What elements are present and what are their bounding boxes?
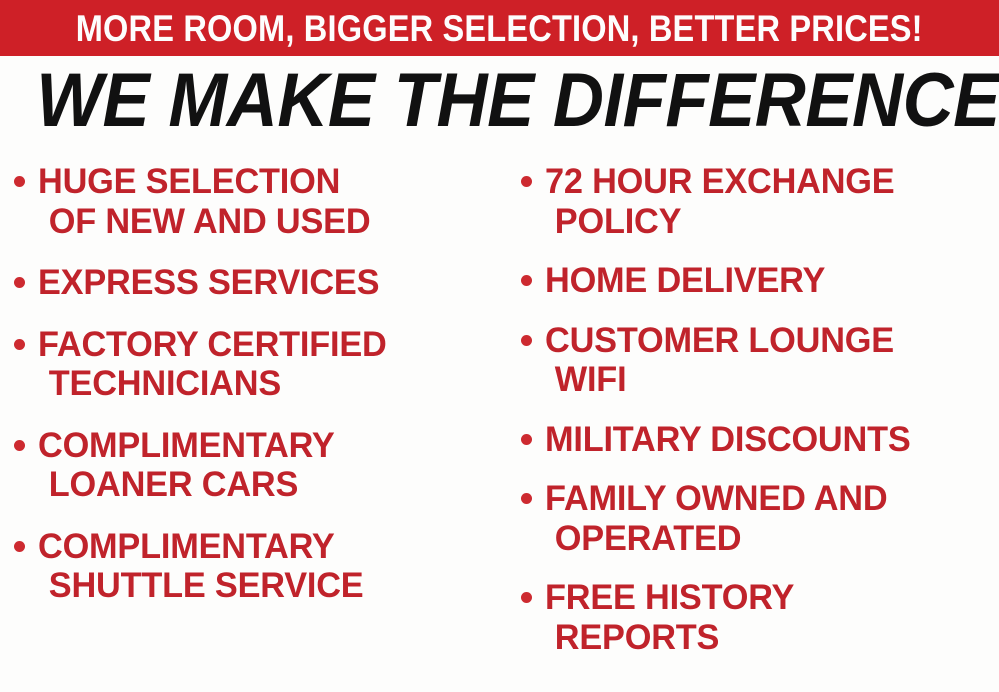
- list-item: EXPRESS SERVICES: [14, 263, 505, 303]
- list-item: COMPLIMENTARY LOANER CARS: [14, 426, 505, 505]
- feature-label: FACTORY CERTIFIED TECHNICIANS: [38, 325, 387, 404]
- bullet-dot-icon: [14, 176, 25, 187]
- list-item: MILITARY DISCOUNTS: [521, 420, 999, 460]
- feature-label-line1: FAMILY OWNED AND: [545, 479, 887, 518]
- list-item: FREE HISTORY REPORTS: [521, 578, 999, 657]
- list-item: COMPLIMENTARY SHUTTLE SERVICE: [14, 527, 505, 606]
- feature-label: 72 HOUR EXCHANGE POLICY: [545, 162, 894, 241]
- promo-banner-text: MORE ROOM, BIGGER SELECTION, BETTER PRIC…: [76, 10, 923, 47]
- feature-label-line2: POLICY: [555, 202, 895, 242]
- feature-label-line2: OPERATED: [555, 519, 888, 559]
- feature-label-line2: SHUTTLE SERVICE: [49, 566, 364, 606]
- feature-label-line2: TECHNICIANS: [49, 364, 387, 404]
- feature-label: FAMILY OWNED AND OPERATED: [545, 479, 887, 558]
- list-item: FAMILY OWNED AND OPERATED: [521, 479, 999, 558]
- feature-columns: HUGE SELECTION OF NEW AND USED EXPRESS S…: [0, 162, 999, 692]
- list-item: FACTORY CERTIFIED TECHNICIANS: [14, 325, 505, 404]
- top-promo-banner: MORE ROOM, BIGGER SELECTION, BETTER PRIC…: [0, 0, 999, 56]
- feature-label-line1: COMPLIMENTARY: [38, 527, 335, 566]
- feature-label-line1: CUSTOMER LOUNGE: [545, 321, 894, 360]
- bullet-dot-icon: [521, 275, 532, 286]
- list-item: CUSTOMER LOUNGE WIFI: [521, 321, 999, 400]
- list-item: HOME DELIVERY: [521, 261, 999, 301]
- feature-label-line1: COMPLIMENTARY: [38, 426, 335, 465]
- feature-label: COMPLIMENTARY SHUTTLE SERVICE: [38, 527, 363, 606]
- feature-label-line2: OF NEW AND USED: [49, 202, 371, 242]
- feature-column-left: HUGE SELECTION OF NEW AND USED EXPRESS S…: [0, 162, 505, 628]
- bullet-dot-icon: [14, 440, 25, 451]
- feature-label: HOME DELIVERY: [545, 261, 825, 301]
- feature-label-line1: FREE HISTORY: [545, 578, 794, 617]
- list-item: 72 HOUR EXCHANGE POLICY: [521, 162, 999, 241]
- list-item: HUGE SELECTION OF NEW AND USED: [14, 162, 505, 241]
- bullet-dot-icon: [14, 277, 25, 288]
- feature-column-right: 72 HOUR EXCHANGE POLICY HOME DELIVERY CU…: [505, 162, 999, 677]
- headline: WE MAKE THE DIFFERENCE: [0, 63, 999, 139]
- feature-label: EXPRESS SERVICES: [38, 263, 379, 303]
- feature-label-line1: EXPRESS SERVICES: [38, 263, 379, 302]
- advertisement-banner: MORE ROOM, BIGGER SELECTION, BETTER PRIC…: [0, 0, 999, 692]
- bullet-dot-icon: [521, 592, 532, 603]
- feature-label-line2: LOANER CARS: [49, 465, 335, 505]
- bullet-dot-icon: [521, 493, 532, 504]
- feature-label-line1: HUGE SELECTION: [38, 162, 340, 201]
- feature-label-line2: WIFI: [555, 360, 894, 400]
- feature-label: HUGE SELECTION OF NEW AND USED: [38, 162, 370, 241]
- bullet-dot-icon: [14, 541, 25, 552]
- feature-label: COMPLIMENTARY LOANER CARS: [38, 426, 335, 505]
- feature-label-line1: MILITARY DISCOUNTS: [545, 420, 911, 459]
- feature-label: MILITARY DISCOUNTS: [545, 420, 911, 460]
- bullet-dot-icon: [521, 176, 532, 187]
- feature-label-line1: 72 HOUR EXCHANGE: [545, 162, 894, 201]
- feature-label: FREE HISTORY REPORTS: [545, 578, 794, 657]
- feature-label: CUSTOMER LOUNGE WIFI: [545, 321, 894, 400]
- bullet-dot-icon: [521, 335, 532, 346]
- feature-label-line1: FACTORY CERTIFIED: [38, 325, 387, 364]
- feature-label-line2: REPORTS: [555, 618, 794, 658]
- feature-label-line1: HOME DELIVERY: [545, 261, 825, 300]
- bullet-dot-icon: [14, 339, 25, 350]
- headline-text: WE MAKE THE DIFFERENCE: [36, 63, 999, 139]
- bullet-dot-icon: [521, 434, 532, 445]
